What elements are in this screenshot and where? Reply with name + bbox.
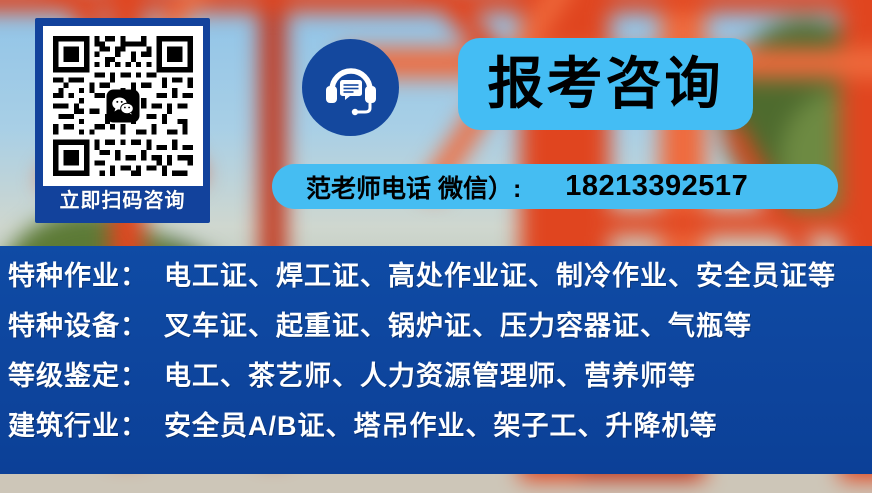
info-row: 特种设备： 叉车证、起重证、锅炉证、压力容器证、气瓶等: [0, 304, 872, 354]
contact-phone-number[interactable]: 18213392517: [565, 170, 748, 203]
headset-support-icon: [319, 56, 383, 120]
page-title: 报考咨询: [488, 56, 724, 112]
contact-banner[interactable]: 范老师电话 微信）: 18213392517: [272, 164, 838, 209]
category-label: 特种设备：: [8, 304, 156, 343]
category-label: 特种作业：: [8, 254, 156, 293]
qr-card[interactable]: 立即扫码咨询: [35, 18, 210, 223]
contact-label: 范老师电话 微信）:: [306, 169, 521, 205]
wechat-glyph: [111, 97, 134, 116]
info-row: 等级鉴定： 电工、茶艺师、人力资源管理师、营养师等: [0, 354, 872, 404]
category-items: 叉车证、起重证、锅炉证、压力容器证、气瓶等: [164, 304, 752, 343]
category-items: 电工、茶艺师、人力资源管理师、营养师等: [164, 354, 696, 393]
category-label: 建筑行业：: [8, 404, 156, 443]
crane-beam: [520, 210, 872, 236]
poster-root: 立即扫码咨询 报考咨询 范老师电话 微信）: 1821339: [0, 0, 872, 493]
qr-code-image[interactable]: [43, 26, 203, 186]
support-avatar: [302, 39, 399, 136]
title-badge: 报考咨询: [458, 38, 753, 130]
info-row: 建筑行业： 安全员A/B证、塔吊作业、架子工、升降机等: [0, 404, 872, 454]
category-label: 等级鉴定：: [8, 354, 156, 393]
info-row: 特种作业： 电工证、焊工证、高处作业证、制冷作业、安全员证等: [0, 254, 872, 304]
wechat-icon: [106, 90, 139, 123]
qr-caption: 立即扫码咨询: [60, 191, 186, 211]
category-items: 电工证、焊工证、高处作业证、制冷作业、安全员证等: [164, 254, 836, 293]
category-items: 安全员A/B证、塔吊作业、架子工、升降机等: [164, 404, 718, 443]
certificate-categories-panel: 特种作业： 电工证、焊工证、高处作业证、制冷作业、安全员证等 特种设备： 叉车证…: [0, 246, 872, 474]
